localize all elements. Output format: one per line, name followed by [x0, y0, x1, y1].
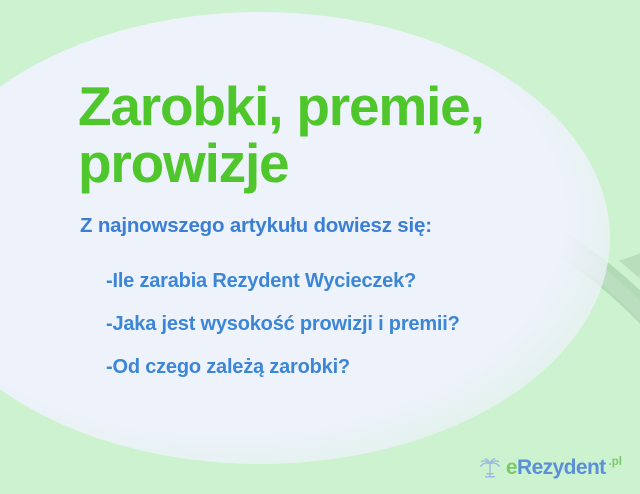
logo-name-text: Rezydent [517, 456, 606, 479]
erezydent-logo[interactable]: eRezydent .pl [476, 454, 622, 482]
logo-tld: .pl [609, 456, 622, 468]
poster-content: Zarobki, premie, prowizje Z najnowszego … [0, 0, 640, 494]
page-title: Zarobki, premie, prowizje [78, 78, 578, 191]
list-item: -Od czego zależą zarobki? [106, 346, 460, 389]
topic-list: -Ile zarabia Rezydent Wycieczek? -Jaka j… [106, 260, 460, 389]
list-item: -Ile zarabia Rezydent Wycieczek? [106, 260, 460, 303]
subtitle: Z najnowszego artykułu dowiesz się: [80, 214, 432, 238]
promo-poster: Zarobki, premie, prowizje Z najnowszego … [0, 0, 640, 494]
palm-tree-icon [476, 454, 504, 482]
logo-wordmark: eRezydent [506, 456, 606, 480]
list-item: -Jaka jest wysokość prowizji i premii? [106, 303, 460, 346]
logo-e-letter: e [506, 456, 517, 479]
